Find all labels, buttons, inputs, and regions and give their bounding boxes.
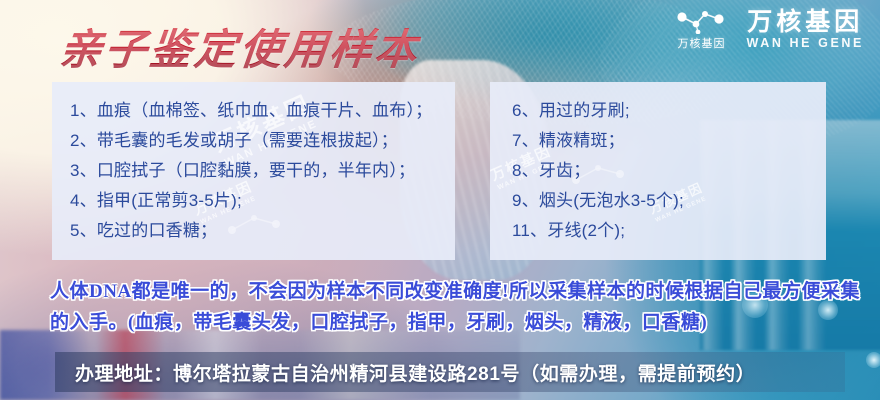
list-item: 8、牙齿； [512, 156, 826, 186]
sample-list-panel-right: 万核基因 WAN HE GENE 万核基因 WAN HE GENE 6、用过的牙… [490, 82, 826, 260]
brand-name-en: WAN HE GENE [747, 37, 865, 50]
list-item: 7、精液精斑； [512, 126, 826, 156]
list-item: 5、吃过的口香糖； [70, 216, 455, 246]
list-item: 4、指甲(正常剪3-5片); [70, 186, 455, 216]
page-title: 亲子鉴定使用样本 [57, 16, 423, 77]
list-item: 11、牙线(2个); [512, 216, 826, 246]
logo-mark: 万核基因 [671, 8, 733, 51]
info-blurb-line: 的入手。(血痕，带毛囊头发，口腔拭子，指甲，牙刷，烟头，精液，口香糖) [50, 307, 850, 338]
logo-mark-label: 万核基因 [678, 35, 726, 51]
list-item: 9、烟头(无泡水3-5个); [512, 186, 826, 216]
poster-canvas: 万核基因 万核基因 WAN HE GENE 亲子鉴定使用样本 万核基因 WAN … [0, 0, 880, 400]
list-item: 6、用过的牙刷; [512, 96, 826, 126]
logo-wordmark: 万核基因 WAN HE GENE [747, 9, 865, 50]
sample-list-left: 1、血痕（血棉签、纸巾血、血痕干片、血布）； 2、带毛囊的毛发或胡子（需要连根拔… [52, 82, 455, 246]
list-item: 3、口腔拭子（口腔黏膜，要干的，半年内）； [70, 156, 455, 186]
molecule-dna-icon [671, 8, 733, 34]
brand-name-cn: 万核基因 [747, 9, 863, 35]
bokeh-highlight [866, 352, 880, 368]
info-blurb: 人体DNA都是唯一的，不会因为样本不同改变准确度!所以采集样本的时候根据自己最方… [50, 276, 850, 338]
list-item: 1、血痕（血棉签、纸巾血、血痕干片、血布）； [70, 96, 455, 126]
sample-list-panel-left: 万核基因 WAN HE GENE 万核基因 WAN HE GENE 1、血痕（血… [52, 82, 455, 260]
info-blurb-line: 人体DNA都是唯一的，不会因为样本不同改变准确度!所以采集样本的时候根据自己最方… [50, 276, 850, 307]
brand-logo: 万核基因 万核基因 WAN HE GENE [671, 8, 865, 51]
address-text: 办理地址：博尔塔拉蒙古自治州精河县建设路281号（如需办理，需提前预约） [75, 352, 865, 392]
sample-list-right: 6、用过的牙刷; 7、精液精斑； 8、牙齿； 9、烟头(无泡水3-5个); 11… [490, 82, 826, 246]
list-item: 2、带毛囊的毛发或胡子（需要连根拔起）； [70, 126, 455, 156]
